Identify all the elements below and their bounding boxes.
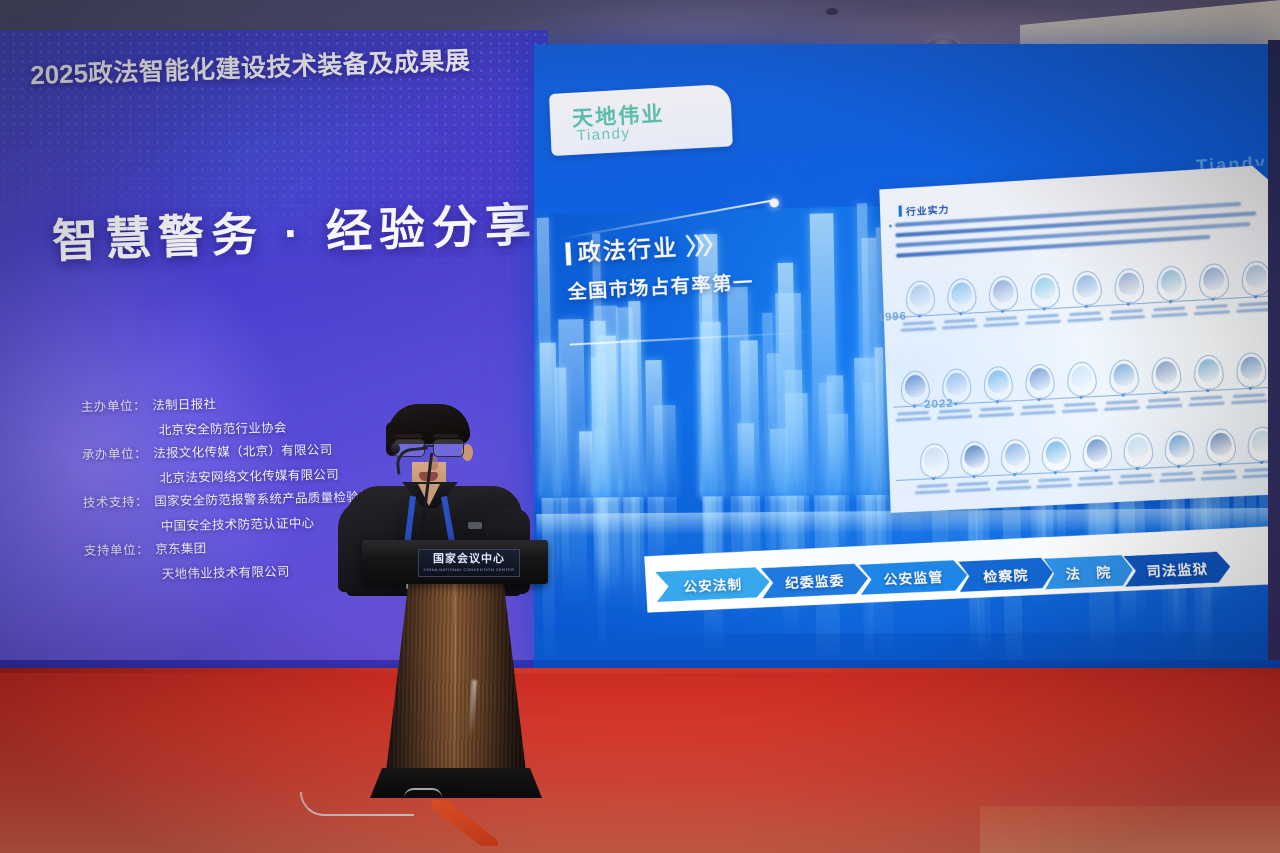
timeline-caption: [1201, 476, 1237, 481]
timeline-node-icon: [1000, 439, 1030, 475]
timeline-node-icon: [988, 275, 1018, 311]
building: [654, 405, 677, 497]
timeline-node-image: [1086, 439, 1108, 463]
venue-name-cn: 国家会议中心: [433, 554, 505, 565]
timeline-marker: [959, 312, 962, 315]
podium: 国家会议中心 CHINA NATIONAL CONVENTION CENTER: [362, 540, 548, 810]
conference-photo: 2025政法智能化建设技术装备及成果展 智慧警务 · 经验分享 主办单位： 法制…: [0, 0, 1280, 853]
timeline-node-icon: [1123, 432, 1154, 468]
timeline-node-image: [905, 374, 926, 398]
timeline-caption: [984, 322, 1020, 327]
timeline-caption: [896, 417, 931, 422]
timeline-year: 1996: [877, 310, 907, 324]
timeline-node-icon: [1236, 352, 1267, 389]
timeline-caption: [915, 490, 950, 495]
podium-seam: [454, 582, 456, 772]
building: [700, 322, 723, 497]
building: [540, 342, 558, 498]
timeline-marker: [1206, 389, 1209, 392]
timeline-caption: [1146, 404, 1182, 409]
event-year: 2025: [30, 58, 89, 90]
credit-label: 主办单位：: [60, 395, 146, 416]
timeline-node-image: [1245, 265, 1267, 289]
timeline-caption: [1038, 478, 1070, 483]
timeline-caption: [986, 316, 1017, 321]
podium-woodgrain: [386, 582, 526, 772]
timeline-marker: [1164, 391, 1167, 394]
timeline-node-icon: [919, 443, 949, 479]
timeline-node-icon: [1151, 356, 1182, 393]
timeline-node-image: [1005, 443, 1027, 467]
timeline-caption: [998, 480, 1029, 485]
timeline-caption: [937, 415, 972, 420]
slide-accent-dot: [770, 198, 779, 207]
timeline-marker: [1001, 310, 1004, 313]
timeline-caption: [1106, 400, 1138, 405]
timeline-node-image: [1076, 275, 1098, 299]
power-cable: [404, 788, 442, 798]
timeline-marker: [1085, 305, 1088, 308]
bullet-icon: [889, 224, 892, 227]
building: [727, 287, 751, 496]
tab-2[interactable]: 公安监管: [859, 560, 968, 596]
timeline-node-icon: [1164, 430, 1195, 467]
timeline-node-icon: [1082, 434, 1113, 470]
timeline-marker: [1218, 463, 1221, 466]
hair: [388, 404, 470, 444]
timeline-node-image: [1045, 441, 1067, 465]
tab-3[interactable]: 检察院: [958, 557, 1054, 592]
stage-step: [980, 806, 1280, 853]
timeline-caption: [942, 325, 977, 330]
timeline-caption: [1231, 399, 1267, 404]
slide-content: 天地伟业 Tiandy Tiandy 政法行业〉〉〉 全国市场占有率第一 行业实…: [534, 44, 1274, 678]
timeline-node-image: [993, 279, 1015, 303]
timeline-marker: [1127, 302, 1130, 305]
timeline-node-icon: [1205, 428, 1236, 465]
timeline-node-icon: [1030, 273, 1061, 310]
credit-value: 京东集团: [155, 537, 207, 557]
timeline-caption: [979, 413, 1015, 418]
credit-label: 技术支持：: [62, 491, 148, 512]
timeline-marker: [972, 475, 975, 478]
timeline-node-icon: [1109, 359, 1140, 396]
tiandy-logo-en: Tiandy: [576, 125, 630, 145]
building: [810, 213, 838, 495]
timeline-caption: [955, 488, 990, 493]
credit-value: 法报文化传媒（北京）有限公司: [153, 439, 333, 462]
timeline-caption: [1069, 311, 1101, 316]
timeline-caption: [901, 327, 936, 332]
timeline-caption: [1104, 406, 1140, 411]
card-heading-bar: [898, 205, 901, 216]
timeline-node-image: [987, 370, 1009, 394]
timeline-marker: [1177, 465, 1180, 468]
timeline-node-image: [946, 372, 968, 396]
timeline-caption: [1238, 302, 1270, 307]
timeline-marker: [913, 405, 916, 408]
building: [596, 342, 620, 498]
timeline-node-icon: [1067, 361, 1098, 397]
card-text-line: [896, 235, 1210, 258]
card-body-text: [879, 164, 1274, 190]
timeline-caption: [980, 407, 1011, 412]
timeline-node-image: [1240, 356, 1262, 380]
credit-value: 法制日报社: [152, 393, 216, 413]
section-title: 政法行业: [577, 228, 679, 268]
podium-top: 国家会议中心 CHINA NATIONAL CONVENTION CENTER: [362, 540, 548, 584]
timeline-node-image: [1198, 358, 1220, 382]
heading-bar: [565, 242, 571, 265]
timeline-caption: [1027, 314, 1058, 319]
timeline-caption: [1153, 307, 1185, 312]
timeline-node-icon: [1025, 363, 1056, 399]
timeline-caption: [1190, 396, 1222, 401]
timeline-node-icon: [1198, 263, 1229, 300]
timeline-caption: [1233, 393, 1265, 398]
timeline-caption: [1161, 472, 1193, 477]
timeline-node-image: [951, 282, 973, 306]
timeline-caption: [1077, 482, 1113, 487]
chevron-right-icon: 〉〉〉: [684, 226, 723, 262]
timeline-caption: [1189, 402, 1225, 407]
timeline-node-icon: [983, 366, 1013, 402]
timeline-marker: [1037, 398, 1040, 401]
glasses-lens: [433, 439, 464, 457]
timeline-node-image: [1203, 267, 1225, 291]
timeline-caption: [1025, 320, 1061, 325]
timeline-caption: [1151, 313, 1187, 318]
timeline-node-image: [910, 284, 931, 308]
slide-section-heading: 政法行业〉〉〉 全国市场占有率第一: [565, 224, 755, 305]
tiandy-logo-banner: 天地伟业 Tiandy: [549, 84, 733, 156]
timeline-marker: [1254, 295, 1257, 298]
building: [579, 431, 593, 498]
timeline-caption: [1064, 402, 1096, 407]
tab-1[interactable]: 纪委监委: [761, 563, 869, 598]
timeline-marker: [954, 402, 957, 405]
timeline-marker: [1211, 298, 1214, 301]
presentation-screen: 天地伟业 Tiandy Tiandy 政法行业〉〉〉 全国市场占有率第一 行业实…: [534, 44, 1274, 678]
timeline-node-image: [1071, 365, 1093, 389]
company-timeline: [879, 164, 1274, 190]
card-heading: 行业实力: [898, 199, 949, 220]
timeline-caption: [1196, 304, 1228, 309]
timeline-marker: [1095, 469, 1098, 472]
timeline-year: 2022: [924, 397, 954, 411]
timeline-caption: [957, 482, 988, 487]
timeline-caption: [1120, 474, 1152, 479]
chest-logo: [468, 522, 482, 529]
venue-name-en: CHINA NATIONAL CONVENTION CENTER: [423, 567, 514, 572]
ceiling-fixture-icon: [826, 8, 838, 15]
timeline-node-image: [1127, 437, 1149, 461]
timeline-caption: [903, 321, 934, 326]
timeline-node-image: [1210, 432, 1232, 456]
microphone-icon: [391, 443, 400, 454]
timeline-caption: [1118, 480, 1154, 485]
timeline-caption: [1109, 315, 1145, 320]
timeline-node-icon: [1072, 270, 1103, 307]
credit-label: 支持单位：: [63, 539, 149, 560]
timeline-node-icon: [1193, 354, 1224, 391]
timeline-node-icon: [905, 280, 935, 316]
timeline-node-image: [1160, 270, 1182, 294]
timeline-marker: [1121, 393, 1124, 396]
timeline-marker: [1043, 307, 1046, 310]
industry-strength-card: 行业实力 1996 2022: [879, 164, 1274, 513]
timeline-caption: [917, 484, 948, 489]
timeline-node-icon: [1041, 436, 1072, 472]
timeline-caption: [1203, 469, 1235, 474]
timeline-node-image: [924, 447, 945, 470]
timeline-marker: [1169, 300, 1172, 303]
timeline-node-icon: [1156, 265, 1187, 302]
timeline-caption: [1079, 476, 1111, 481]
timeline-node-image: [1113, 363, 1135, 387]
timeline-caption: [1020, 410, 1056, 415]
timeline-marker: [1013, 473, 1016, 476]
timeline-marker: [1136, 467, 1139, 470]
tab-4[interactable]: 法 院: [1044, 554, 1134, 589]
timeline-marker: [1260, 461, 1263, 464]
timeline-caption: [1148, 398, 1180, 403]
venue-nameplate: 国家会议中心 CHINA NATIONAL CONVENTION CENTER: [418, 549, 520, 577]
timeline-caption: [996, 486, 1032, 491]
power-cable: [300, 792, 414, 816]
credit-label: 承办单位：: [61, 443, 147, 464]
timeline-node-image: [964, 445, 986, 469]
timeline-caption: [1036, 484, 1072, 489]
timeline-node-image: [1155, 361, 1177, 385]
timeline-node-icon: [947, 278, 977, 314]
timeline-node-image: [1034, 277, 1056, 301]
timeline-node-icon: [960, 441, 990, 477]
building: [775, 293, 803, 496]
tab-5[interactable]: 司法监狱: [1123, 551, 1231, 587]
timeline-caption: [1067, 317, 1103, 322]
timeline-node-image: [1029, 368, 1051, 392]
side-wall: [1268, 40, 1280, 680]
timeline-caption: [1194, 310, 1230, 315]
timeline-node-image: [1168, 434, 1190, 458]
tab-0[interactable]: 公安法制: [655, 567, 770, 603]
timeline-caption: [1111, 309, 1143, 314]
eyebrow: [396, 434, 422, 438]
timeline-caption: [898, 411, 929, 416]
timeline-marker: [1079, 396, 1082, 399]
timeline-node-image: [1118, 272, 1140, 296]
timeline-marker: [1054, 471, 1057, 474]
timeline-caption: [1062, 408, 1098, 413]
card-heading-text: 行业实力: [906, 201, 950, 218]
timeline-caption: [944, 319, 975, 324]
timeline-marker: [932, 477, 935, 480]
timeline-marker: [1249, 387, 1252, 390]
eyebrow: [433, 434, 459, 438]
timeline-marker: [918, 314, 921, 317]
timeline-marker: [996, 400, 999, 403]
timeline-node-icon: [1114, 268, 1145, 305]
timeline-caption: [1022, 404, 1053, 409]
carpet-edge: [0, 668, 1280, 673]
timeline-caption: [1159, 478, 1195, 483]
